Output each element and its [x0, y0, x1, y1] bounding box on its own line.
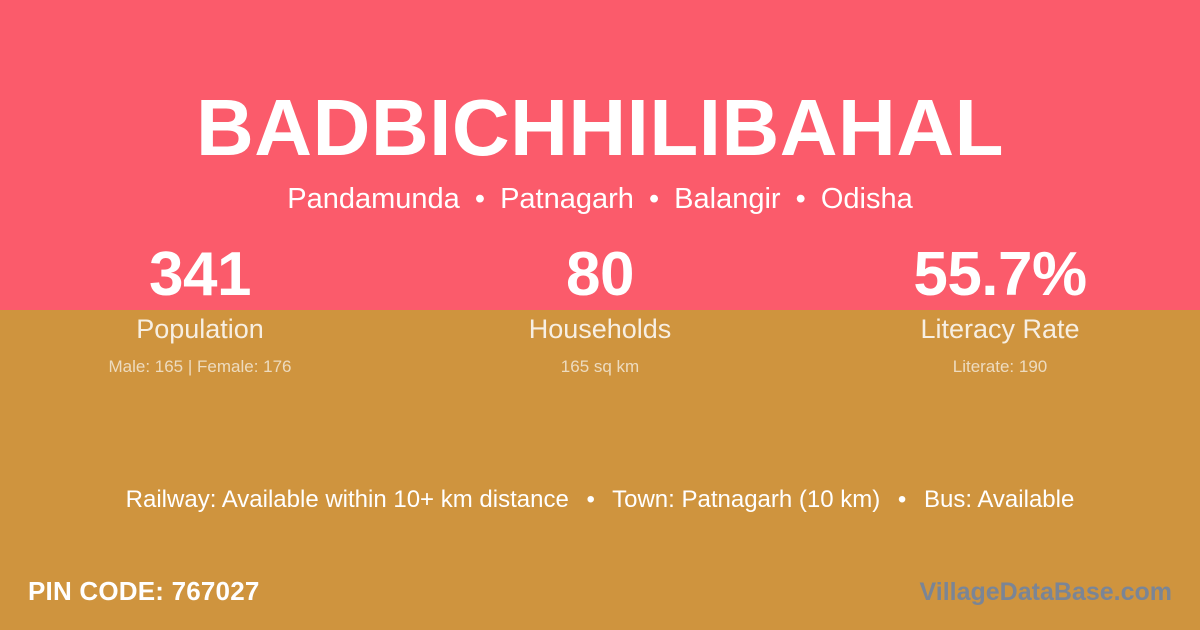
facility-bus: Bus: Available	[924, 486, 1074, 513]
stat-label: Literacy Rate	[800, 312, 1200, 346]
stat-value: 341	[0, 240, 400, 310]
breadcrumb-item-district: Balangir	[674, 183, 780, 215]
stat-literacy-rate: 55.7% Literacy Rate Literate: 190	[800, 240, 1200, 379]
breadcrumb-separator-icon: •	[789, 183, 813, 215]
stat-label: Population	[0, 312, 400, 346]
stat-households: 80 Households 165 sq km	[400, 240, 800, 379]
stat-value: 80	[400, 240, 800, 310]
stat-label: Households	[400, 312, 800, 346]
facility-separator-icon: •	[887, 486, 917, 513]
brand-watermark: VillageDataBase.com	[920, 576, 1172, 608]
breadcrumb-separator-icon: •	[642, 183, 666, 215]
facility-separator-icon: •	[575, 486, 605, 513]
facility-town: Town: Patnagarh (10 km)	[612, 486, 880, 513]
page-title: BADBICHHILIBAHAL	[0, 84, 1200, 172]
stat-sub: 165 sq km	[400, 355, 800, 379]
breadcrumb-item-block: Patnagarh	[500, 183, 634, 215]
stat-sub: Male: 165 | Female: 176	[0, 355, 400, 379]
breadcrumb-item-village: Pandamunda	[287, 183, 460, 215]
footer-bar: PIN CODE: 767027 VillageDataBase.com	[0, 566, 1200, 630]
village-info-card: BADBICHHILIBAHAL Pandamunda • Patnagarh …	[0, 0, 1200, 630]
breadcrumb: Pandamunda • Patnagarh • Balangir • Odis…	[0, 181, 1200, 217]
stat-value: 55.7%	[800, 240, 1200, 310]
stat-population: 341 Population Male: 165 | Female: 176	[0, 240, 400, 379]
facility-railway: Railway: Available within 10+ km distanc…	[126, 486, 569, 513]
pin-code: PIN CODE: 767027	[28, 574, 260, 608]
breadcrumb-separator-icon: •	[468, 183, 492, 215]
stat-sub: Literate: 190	[800, 355, 1200, 379]
breadcrumb-item-state: Odisha	[821, 183, 913, 215]
facilities-line: Railway: Available within 10+ km distanc…	[0, 484, 1200, 516]
stats-row: 341 Population Male: 165 | Female: 176 8…	[0, 240, 1200, 379]
